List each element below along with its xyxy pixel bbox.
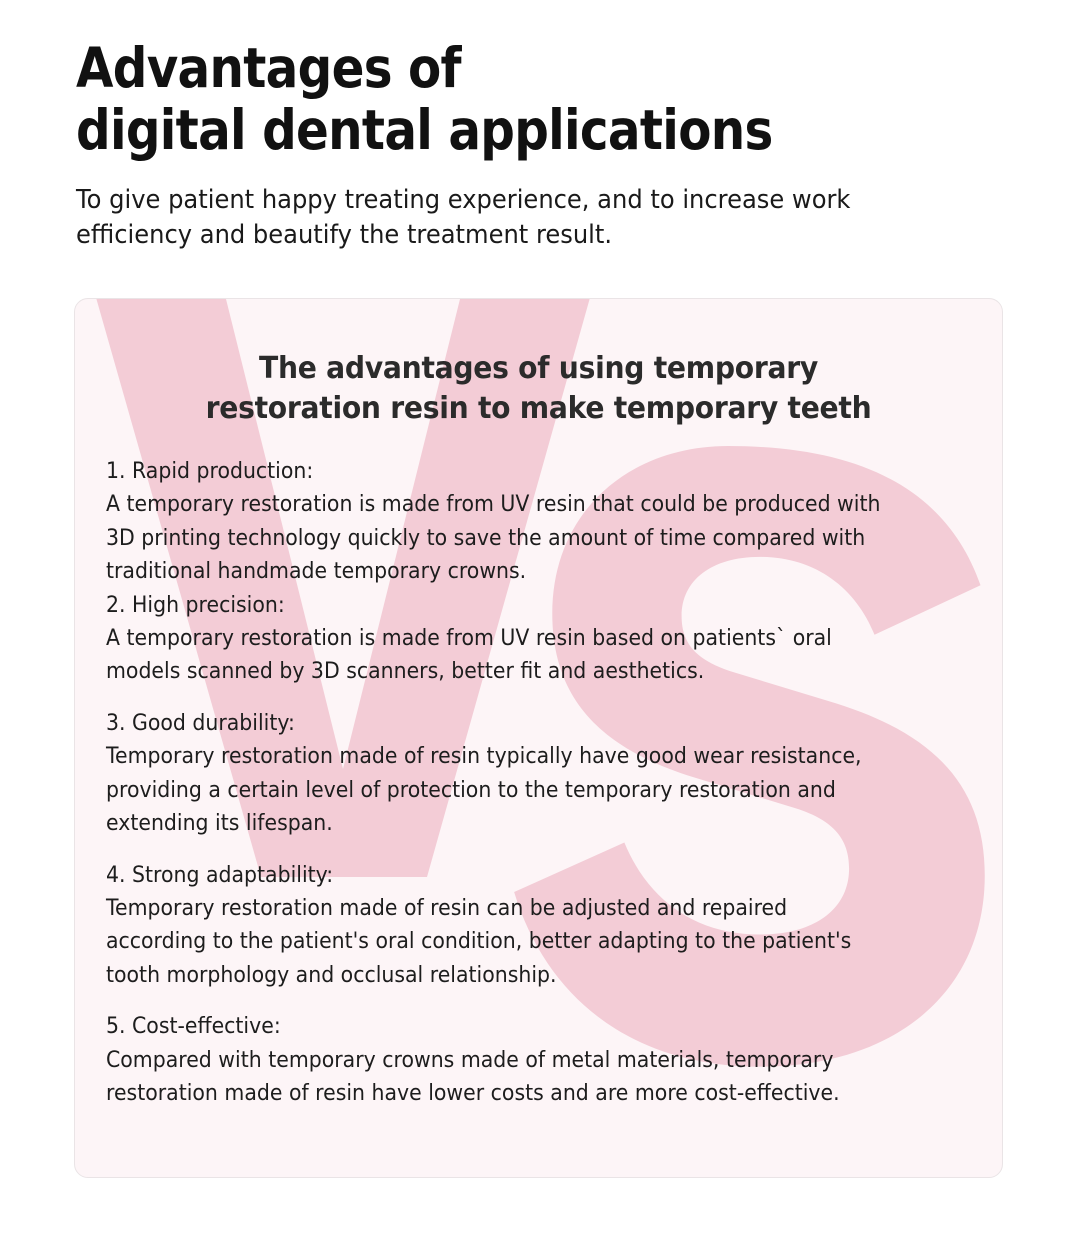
page-title: Advantages of digital dental application… bbox=[76, 38, 912, 161]
list-item: 5. Cost-effective: Compared with tempora… bbox=[106, 1010, 980, 1110]
card-heading: The advantages of using temporary restor… bbox=[103, 299, 974, 429]
section-title: 5. Cost-effective: bbox=[106, 1010, 919, 1043]
advantages-list: 1. Rapid production: A temporary restora… bbox=[75, 455, 1002, 1111]
section-body: Compared with temporary crowns made of m… bbox=[106, 1044, 919, 1111]
section-title: 4. Strong adaptability: bbox=[106, 859, 919, 892]
section-title: 1. Rapid production: bbox=[106, 455, 919, 488]
section-body: A temporary restoration is made from UV … bbox=[106, 488, 919, 588]
advantages-card: The advantages of using temporary restor… bbox=[74, 298, 1003, 1178]
section-body: A temporary restoration is made from UV … bbox=[106, 622, 919, 689]
list-item: 2. High precision: A temporary restorati… bbox=[106, 589, 980, 689]
list-item: 1. Rapid production: A temporary restora… bbox=[106, 455, 980, 589]
section-title: 3. Good durability: bbox=[106, 707, 919, 740]
page-header: Advantages of digital dental application… bbox=[76, 38, 1026, 252]
list-item: 4. Strong adaptability: Temporary restor… bbox=[106, 859, 980, 993]
card-content: The advantages of using temporary restor… bbox=[75, 299, 1002, 1111]
section-body: Temporary restoration made of resin typi… bbox=[106, 740, 919, 840]
list-item: 3. Good durability: Temporary restoratio… bbox=[106, 707, 980, 841]
page-subtitle: To give patient happy treating experienc… bbox=[76, 183, 960, 252]
section-title: 2. High precision: bbox=[106, 589, 919, 622]
section-body: Temporary restoration made of resin can … bbox=[106, 892, 919, 992]
